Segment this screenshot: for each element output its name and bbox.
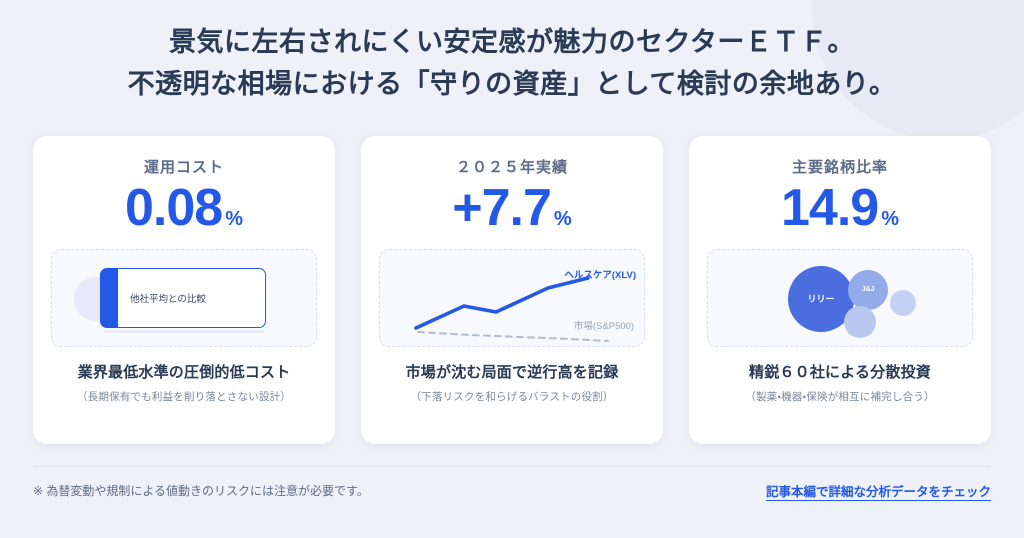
- infographic-stage: 景気に左右されにくい安定感が魅力のセクターＥＴＦ。 不透明な相場における「守りの…: [0, 0, 1024, 538]
- series-label-healthcare: ヘルスケア(XLV): [564, 267, 636, 281]
- bar-label: 他社平均との比較: [130, 291, 206, 305]
- headline-line-1: 景気に左右されにくい安定感が魅力のセクターＥＴＦ。: [0, 22, 1024, 64]
- metric: 0.08 %: [125, 179, 243, 239]
- bar-shadow: [104, 330, 264, 333]
- caption-main: 業界最低水準の圧倒的低コスト: [77, 361, 291, 382]
- metric-unit: %: [225, 208, 243, 231]
- bubble-label: リリー: [807, 292, 834, 305]
- bubble-tertiary: [844, 306, 876, 338]
- page-title: 景気に左右されにくい安定感が魅力のセクターＥＴＦ。 不透明な相場における「守りの…: [0, 22, 1024, 106]
- caption-main: 市場が沈む局面で逆行高を記録: [406, 361, 619, 382]
- stat-card-holdings[interactable]: 主要銘柄比率 14.9 % リリー J&J: [689, 136, 991, 444]
- holdings-bubble-chart: リリー J&J: [707, 249, 973, 347]
- card-caption: 業界最低水準の圧倒的低コスト （長期保有でも利益を削り落とさない設計）: [77, 361, 291, 404]
- metric: +7.7 %: [452, 179, 571, 239]
- stat-card-performance[interactable]: ２０２５年実績 +7.7 % ヘルスケア(XLV) 市場(S&P500) 市場が…: [361, 136, 663, 444]
- caption-sub: （製薬・機器・保険が相互に補完し合う）: [745, 389, 934, 404]
- metric-value: 14.9: [781, 179, 878, 239]
- card-label: 運用コスト: [144, 156, 224, 177]
- series-line-healthcare: [416, 278, 588, 328]
- article-link[interactable]: 記事本編で詳細な分析データをチェック: [766, 481, 991, 500]
- bubble-label: J&J: [862, 286, 875, 293]
- comparison-bar: 他社平均との比較: [100, 268, 266, 328]
- stat-card-cost[interactable]: 運用コスト 0.08 % 他社平均との比較 業界最低水準の圧倒的低コスト （長期…: [33, 136, 335, 444]
- bubble-group: リリー J&J: [708, 250, 972, 346]
- cost-comparison-chart: 他社平均との比較: [51, 249, 317, 347]
- card-caption: 市場が沈む局面で逆行高を記録 （下落リスクを和らげるバラストの役割）: [406, 361, 619, 404]
- metric-unit: %: [881, 208, 899, 231]
- metric-unit: %: [554, 208, 572, 231]
- card-label: 主要銘柄比率: [792, 156, 888, 177]
- caption-sub: （下落リスクを和らげるバラストの役割）: [406, 389, 619, 404]
- series-label-market: 市場(S&P500): [574, 318, 634, 332]
- performance-line-chart: ヘルスケア(XLV) 市場(S&P500): [379, 249, 645, 347]
- footnote-text: ※ 為替変動や規制による値動きのリスクには注意が必要です。: [33, 482, 369, 499]
- headline-line-2: 不透明な相場における「守りの資産」として検討の余地あり。: [0, 64, 1024, 106]
- caption-main: 精鋭６０社による分散投資: [745, 361, 934, 382]
- stat-card-list: 運用コスト 0.08 % 他社平均との比較 業界最低水準の圧倒的低コスト （長期…: [33, 136, 991, 444]
- metric: 14.9 %: [781, 179, 899, 239]
- bar-fill: [101, 269, 118, 327]
- metric-value: 0.08: [125, 179, 222, 239]
- bubble-quaternary: [890, 290, 916, 316]
- card-label: ２０２５年実績: [456, 156, 568, 177]
- footer: ※ 為替変動や規制による値動きのリスクには注意が必要です。 記事本編で詳細な分析…: [33, 481, 991, 500]
- metric-value: +7.7: [452, 179, 551, 239]
- series-line-market: [418, 332, 608, 341]
- bubble-secondary: J&J: [848, 270, 888, 310]
- footer-divider: [33, 466, 991, 467]
- card-caption: 精鋭６０社による分散投資 （製薬・機器・保険が相互に補完し合う）: [745, 361, 934, 404]
- caption-sub: （長期保有でも利益を削り落とさない設計）: [77, 389, 291, 404]
